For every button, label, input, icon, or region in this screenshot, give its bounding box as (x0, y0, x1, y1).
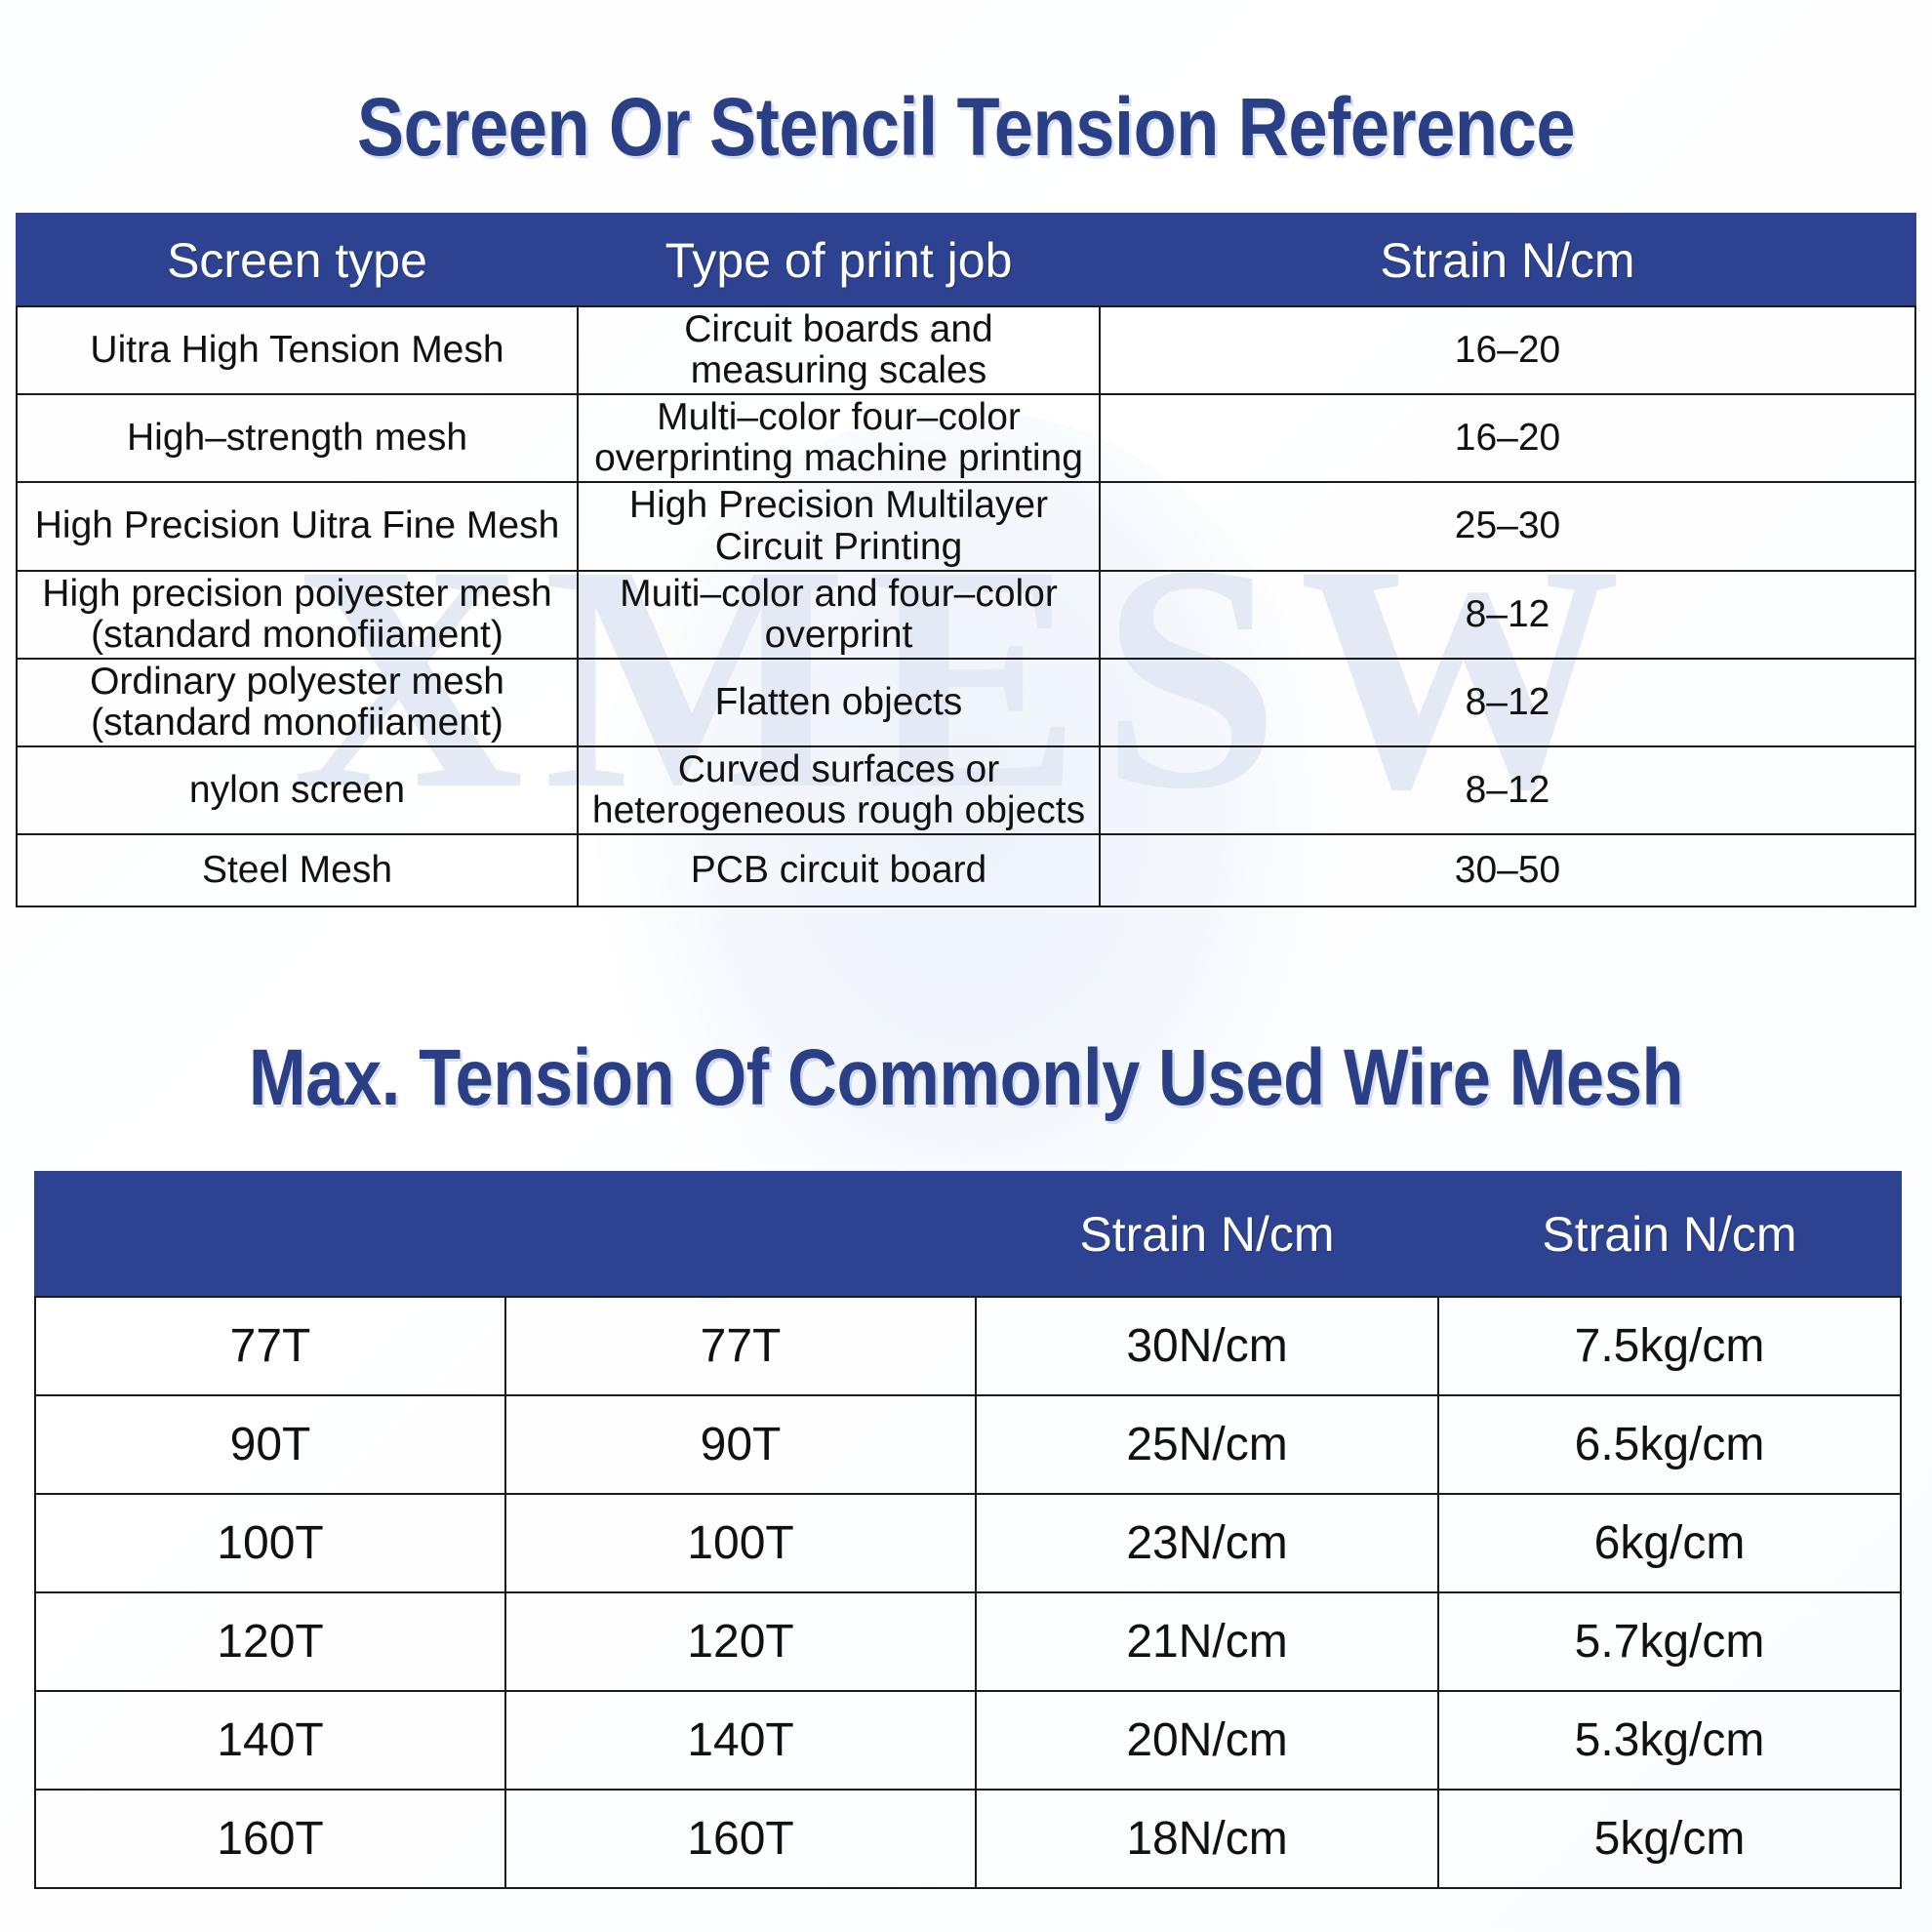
cell-screen-type: nylon screen (17, 746, 578, 834)
cell-line: High Precision Multilayer (586, 485, 1091, 526)
infographic-page: XMESW MACHINERY Screen Or Stencil Tensio… (0, 0, 1932, 1932)
cell-line: overprint (586, 615, 1091, 656)
cell-strain: 16–20 (1100, 306, 1915, 394)
wire-table-grid: Strain N/cm Strain N/cm 77T 77T 30N/cm 7… (34, 1171, 1902, 1889)
cell-strain-n: 23N/cm (976, 1494, 1438, 1592)
cell-line: (standard monofiiament) (25, 703, 569, 744)
cell-mesh-count-2: 77T (505, 1297, 976, 1395)
cell-print-job: Circuit boards and measuring scales (578, 306, 1100, 394)
cell-strain: 30–50 (1100, 834, 1915, 906)
tension-header-screen-type: Screen type (17, 214, 578, 306)
cell-mesh-count: 120T (35, 1592, 505, 1691)
cell-line: Flatten objects (586, 682, 1091, 723)
cell-print-job: Curved surfaces or heterogeneous rough o… (578, 746, 1100, 834)
cell-mesh-count: 100T (35, 1494, 505, 1592)
cell-strain-n: 30N/cm (976, 1297, 1438, 1395)
cell-strain-kg: 6.5kg/cm (1438, 1395, 1901, 1494)
cell-strain: 16–20 (1100, 394, 1915, 482)
cell-line: Curved surfaces or (586, 749, 1091, 790)
cell-line: High Precision Uitra Fine Mesh (25, 505, 569, 546)
wire-header-blank-1 (35, 1172, 505, 1297)
cell-line: measuring scales (586, 350, 1091, 391)
cell-screen-type: Uitra High Tension Mesh (17, 306, 578, 394)
cell-line: nylon screen (25, 770, 569, 811)
cell-print-job: Multi–color four–color overprinting mach… (578, 394, 1100, 482)
wire-header-strain-kg: Strain N/cm (1438, 1172, 1901, 1297)
cell-strain-n: 18N/cm (976, 1790, 1438, 1888)
table-row: 140T 140T 20N/cm 5.3kg/cm (35, 1691, 1901, 1790)
cell-mesh-count-2: 100T (505, 1494, 976, 1592)
cell-line: Circuit boards and (586, 309, 1091, 350)
cell-strain-n: 25N/cm (976, 1395, 1438, 1494)
table-row: Ordinary polyester mesh (standard monofi… (17, 659, 1915, 746)
cell-line: Steel Mesh (25, 850, 569, 891)
wire-mesh-tension-table: Strain N/cm Strain N/cm 77T 77T 30N/cm 7… (34, 1171, 1900, 1889)
table-row: 100T 100T 23N/cm 6kg/cm (35, 1494, 1901, 1592)
cell-line: (standard monofiiament) (25, 615, 569, 656)
tension-table-head: Screen type Type of print job Strain N/c… (17, 214, 1915, 306)
cell-line: Uitra High Tension Mesh (25, 330, 569, 371)
cell-print-job: Muiti–color and four–color overprint (578, 571, 1100, 659)
cell-line: Multi–color four–color (586, 397, 1091, 438)
cell-strain: 8–12 (1100, 571, 1915, 659)
second-title-wrap: Max. Tension Of Commonly Used Wire Mesh (0, 1015, 1932, 1118)
cell-strain: 8–12 (1100, 746, 1915, 834)
cell-mesh-count-2: 140T (505, 1691, 976, 1790)
cell-screen-type: High Precision Uitra Fine Mesh (17, 482, 578, 570)
cell-mesh-count: 140T (35, 1691, 505, 1790)
table-row: 77T 77T 30N/cm 7.5kg/cm (35, 1297, 1901, 1395)
page-title-main: Screen Or Stencil Tension Reference (136, 0, 1797, 168)
cell-strain-kg: 5kg/cm (1438, 1790, 1901, 1888)
wire-header-row: Strain N/cm Strain N/cm (35, 1172, 1901, 1297)
cell-line: Ordinary polyester mesh (25, 662, 569, 703)
table-row: High–strength mesh Multi–color four–colo… (17, 394, 1915, 482)
page-title-second: Max. Tension Of Commonly Used Wire Mesh (136, 1015, 1797, 1118)
table-row: Uitra High Tension Mesh Circuit boards a… (17, 306, 1915, 394)
table-row: 160T 160T 18N/cm 5kg/cm (35, 1790, 1901, 1888)
cell-mesh-count: 77T (35, 1297, 505, 1395)
wire-header-blank-2 (505, 1172, 976, 1297)
cell-print-job: Flatten objects (578, 659, 1100, 746)
cell-line: overprinting machine printing (586, 438, 1091, 479)
cell-mesh-count-2: 160T (505, 1790, 976, 1888)
cell-strain: 25–30 (1100, 482, 1915, 570)
wire-header-strain-n: Strain N/cm (976, 1172, 1438, 1297)
table-row: 120T 120T 21N/cm 5.7kg/cm (35, 1592, 1901, 1691)
cell-strain-kg: 5.7kg/cm (1438, 1592, 1901, 1691)
cell-line: High–strength mesh (25, 418, 569, 459)
cell-strain-kg: 5.3kg/cm (1438, 1691, 1901, 1790)
wire-table-head: Strain N/cm Strain N/cm (35, 1172, 1901, 1297)
cell-line: PCB circuit board (586, 850, 1091, 891)
table-row: 90T 90T 25N/cm 6.5kg/cm (35, 1395, 1901, 1494)
cell-mesh-count-2: 120T (505, 1592, 976, 1691)
cell-print-job: PCB circuit board (578, 834, 1100, 906)
tension-header-strain: Strain N/cm (1100, 214, 1915, 306)
cell-mesh-count: 160T (35, 1790, 505, 1888)
table-row: Steel Mesh PCB circuit board 30–50 (17, 834, 1915, 906)
cell-screen-type: High–strength mesh (17, 394, 578, 482)
cell-screen-type: Steel Mesh (17, 834, 578, 906)
cell-strain-kg: 6kg/cm (1438, 1494, 1901, 1592)
wire-table-body: 77T 77T 30N/cm 7.5kg/cm 90T 90T 25N/cm 6… (35, 1297, 1901, 1888)
cell-strain: 8–12 (1100, 659, 1915, 746)
tension-table-body: Uitra High Tension Mesh Circuit boards a… (17, 306, 1915, 906)
cell-strain-n: 21N/cm (976, 1592, 1438, 1691)
table-row: High Precision Uitra Fine Mesh High Prec… (17, 482, 1915, 570)
cell-line: High precision poiyester mesh (25, 574, 569, 615)
cell-line: Circuit Printing (586, 527, 1091, 568)
tension-header-row: Screen type Type of print job Strain N/c… (17, 214, 1915, 306)
cell-mesh-count-2: 90T (505, 1395, 976, 1494)
table-row: nylon screen Curved surfaces or heteroge… (17, 746, 1915, 834)
cell-screen-type: Ordinary polyester mesh (standard monofi… (17, 659, 578, 746)
cell-print-job: High Precision Multilayer Circuit Printi… (578, 482, 1100, 570)
cell-line: heterogeneous rough objects (586, 790, 1091, 831)
cell-mesh-count: 90T (35, 1395, 505, 1494)
cell-strain-n: 20N/cm (976, 1691, 1438, 1790)
table-row: High precision poiyester mesh (standard … (17, 571, 1915, 659)
cell-line: Muiti–color and four–color (586, 574, 1091, 615)
cell-strain-kg: 7.5kg/cm (1438, 1297, 1901, 1395)
tension-table-grid: Screen type Type of print job Strain N/c… (16, 213, 1916, 907)
tension-reference-table: Screen type Type of print job Strain N/c… (16, 213, 1914, 907)
tension-header-print-job: Type of print job (578, 214, 1100, 306)
cell-screen-type: High precision poiyester mesh (standard … (17, 571, 578, 659)
